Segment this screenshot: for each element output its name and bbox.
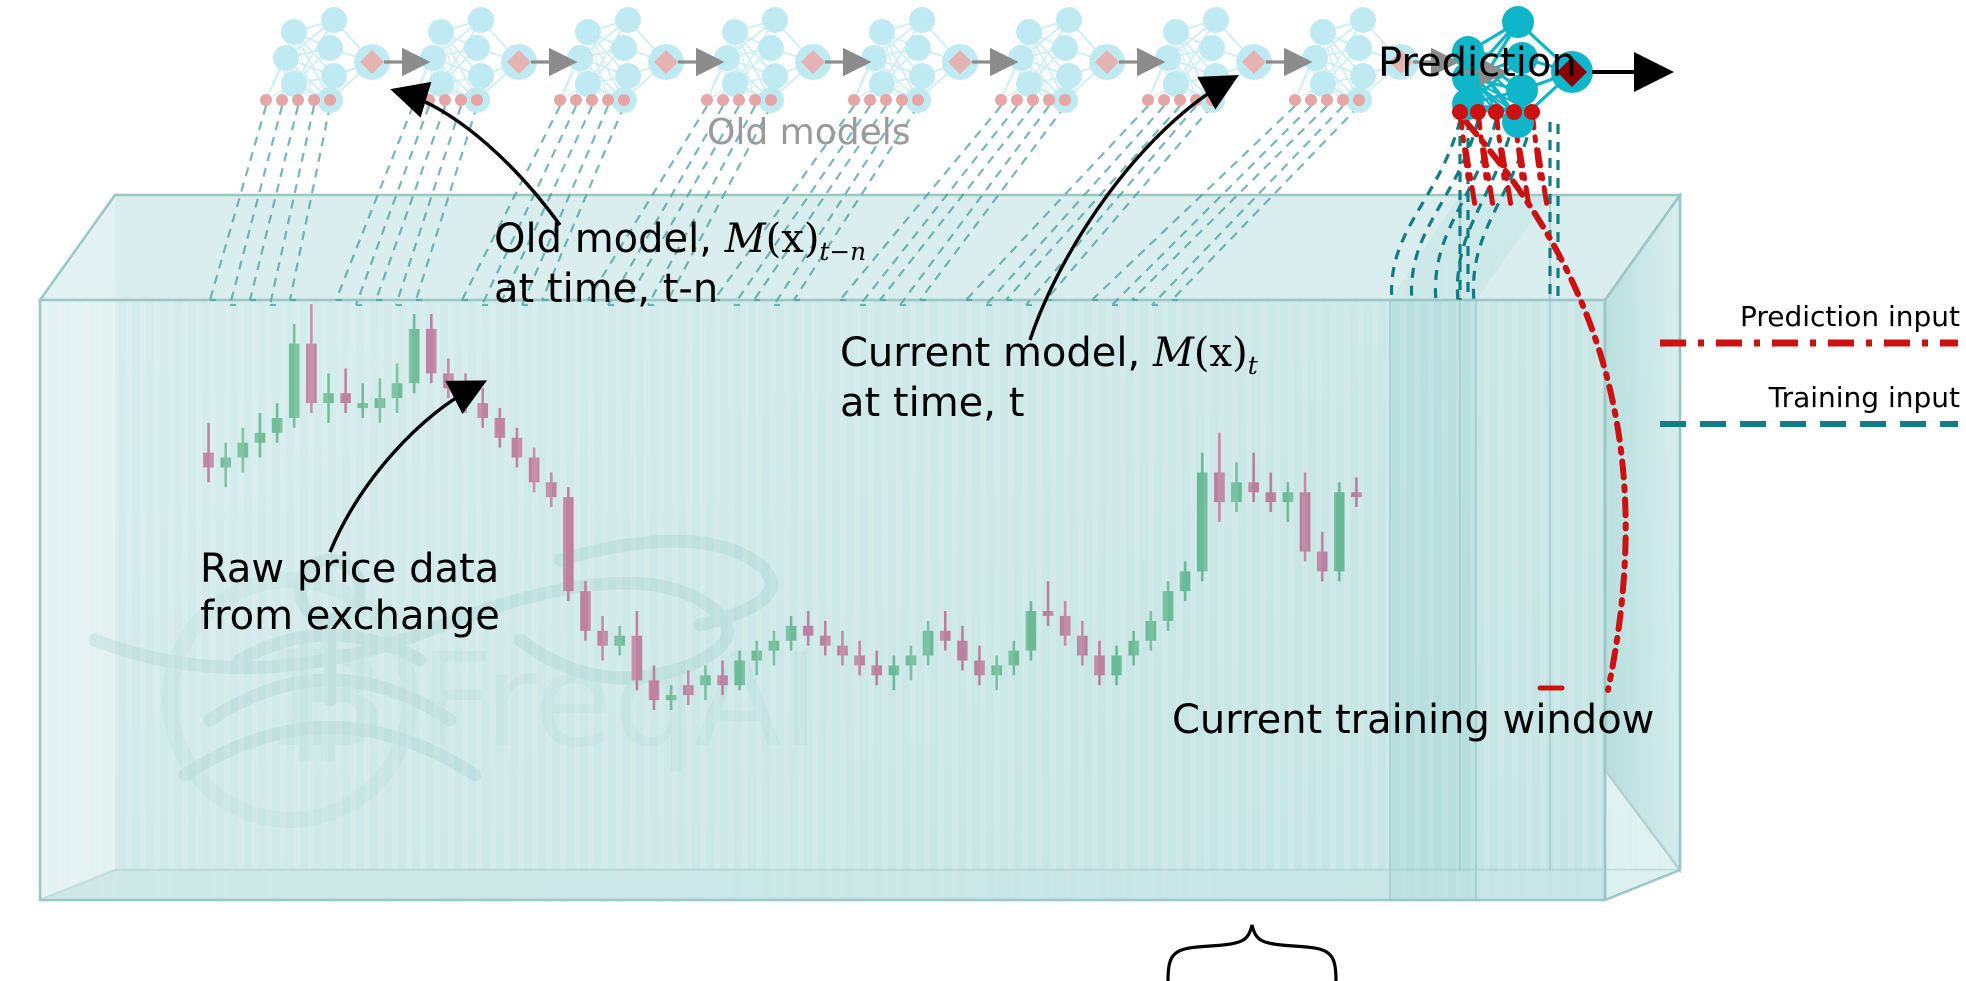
current-model-time-text: at time, t xyxy=(840,380,1258,427)
old-model-time-text: at time, t-n xyxy=(494,266,866,313)
current-model-math-x: (x) xyxy=(1194,330,1248,376)
current-model-text: Current model, xyxy=(840,330,1153,376)
old-models-label: Old models xyxy=(707,112,910,154)
current-model-math-M: M xyxy=(1153,330,1194,376)
current-model-annotation: Current model, M(x)t at time, t xyxy=(840,330,1258,427)
raw-price-annotation-arrow xyxy=(330,385,478,552)
legend-item-prediction: Prediction input xyxy=(1660,300,1960,357)
raw-price-annotation: Raw price data from exchange xyxy=(200,546,500,640)
raw-price-line-1: Raw price data xyxy=(200,546,500,593)
legend-label-prediction: Prediction input xyxy=(1660,300,1960,333)
legend-item-training: Training input xyxy=(1660,381,1960,438)
old-model-text: Old model, xyxy=(494,216,725,262)
old-model-math-subscript: t−n xyxy=(819,237,866,266)
diagram-canvas: ₿ FreqAI xyxy=(0,0,1966,981)
training-window-brace xyxy=(1168,925,1336,981)
prediction-label: Prediction xyxy=(1378,40,1577,87)
old-model-annotation-arrow xyxy=(400,92,560,225)
old-model-annotation: Old model, M(x)t−n at time, t-n xyxy=(494,216,866,313)
raw-price-line-2: from exchange xyxy=(200,593,500,640)
legend-label-training: Training input xyxy=(1660,381,1960,414)
legend-swatch-prediction-icon xyxy=(1660,333,1960,353)
current-model-math-subscript: t xyxy=(1248,351,1258,380)
legend-swatch-training-icon xyxy=(1660,414,1960,434)
legend: Prediction input Training input xyxy=(1660,300,1960,438)
annotation-layer xyxy=(0,0,1966,981)
current-training-window-label: Current training window xyxy=(1172,697,1654,744)
old-model-math-x: (x) xyxy=(766,216,820,262)
old-model-math-M: M xyxy=(725,216,766,262)
current-model-annotation-arrow xyxy=(1030,80,1230,340)
